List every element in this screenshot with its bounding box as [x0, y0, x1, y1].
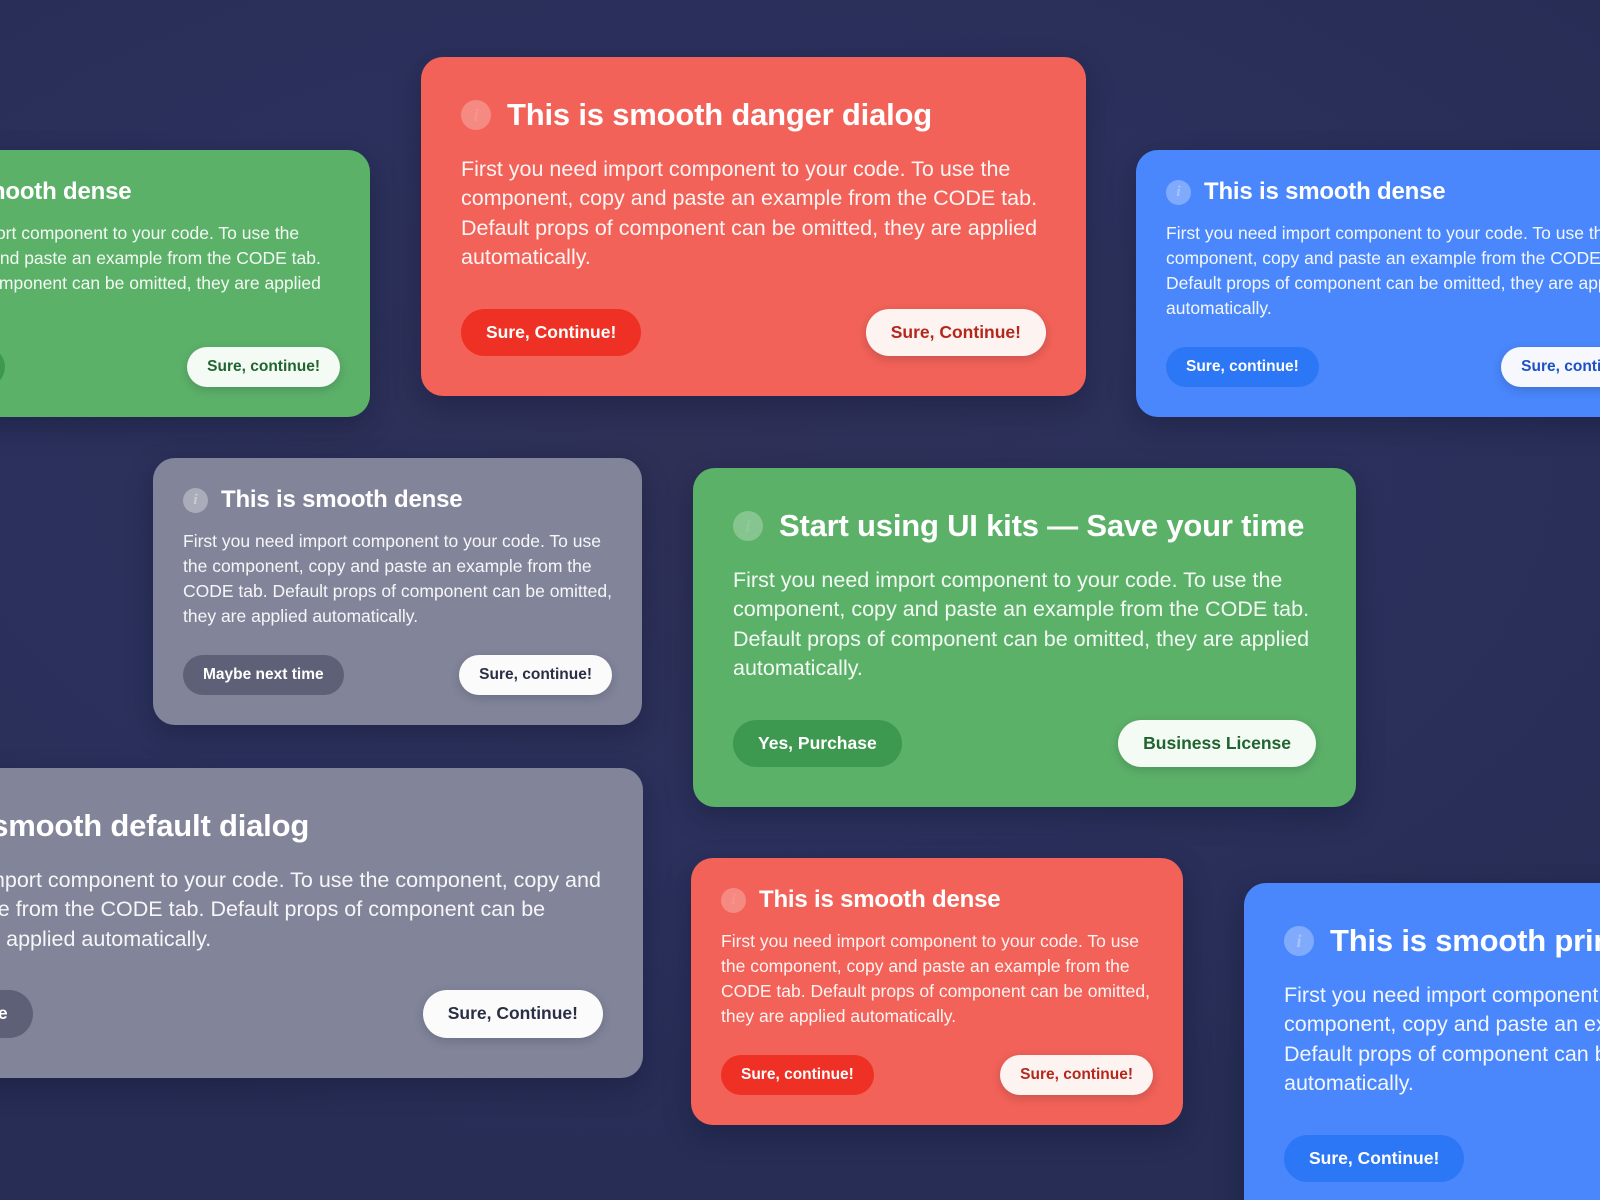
- dialog-body-text: First you need import component to your …: [421, 133, 1086, 273]
- dialog-title: This is smooth dense: [1204, 178, 1445, 206]
- dialog-header: i This is smooth dense: [1136, 150, 1600, 206]
- dialog-body-text: First you need import component to your …: [0, 206, 370, 320]
- primary-action-button[interactable]: Sure, continue!: [1166, 347, 1319, 387]
- dialog-body-text: First you need import component to your …: [1136, 206, 1600, 320]
- info-icon: i: [721, 888, 746, 913]
- dialog-body-text: First you need import component to your …: [153, 514, 642, 628]
- primary-action-button[interactable]: Maybe next time: [183, 655, 344, 695]
- dialog-header: i This is smooth danger dialog: [421, 57, 1086, 133]
- dialog-actions: Sure, Continue!: [1244, 1099, 1600, 1200]
- dialog-success-dense-left: i This is smooth dense First you need im…: [0, 150, 370, 417]
- dialog-header: i This is smooth default dialog: [0, 768, 643, 844]
- info-icon: i: [733, 511, 763, 541]
- secondary-action-button[interactable]: Sure, Continue!: [423, 990, 603, 1038]
- secondary-action-button[interactable]: Sure, continue!: [187, 347, 340, 387]
- info-icon: i: [183, 488, 208, 513]
- dialog-header: i This is smooth dense: [691, 858, 1183, 914]
- dialog-default-comfortable: i This is smooth default dialog First yo…: [0, 768, 643, 1078]
- dialog-actions: Maybe Next Time Sure, Continue!: [0, 954, 643, 1078]
- dialog-danger-comfortable: i This is smooth danger dialog First you…: [421, 57, 1086, 396]
- dialog-header: i Start using UI kits — Save your time: [693, 468, 1356, 544]
- dialog-danger-dense: i This is smooth dense First you need im…: [691, 858, 1183, 1125]
- dialog-header: i This is smooth dense: [0, 150, 370, 206]
- primary-action-button[interactable]: Sure, Continue!: [461, 309, 641, 357]
- primary-action-button[interactable]: Sure, Continue!: [1284, 1135, 1464, 1183]
- dialog-title: This is smooth primary dialog: [1330, 923, 1600, 959]
- dialog-success-comfortable: i Start using UI kits — Save your time F…: [693, 468, 1356, 807]
- secondary-action-button[interactable]: Sure, Continue!: [866, 309, 1046, 357]
- dialog-title: Start using UI kits — Save your time: [779, 508, 1304, 544]
- dialog-default-dense: i This is smooth dense First you need im…: [153, 458, 642, 725]
- dialog-title: This is smooth danger dialog: [507, 97, 932, 133]
- secondary-action-button[interactable]: Sure, continue!: [1501, 347, 1600, 387]
- primary-action-button[interactable]: Maybe Next Time: [0, 990, 33, 1038]
- dialog-body-text: First you need import component to your …: [1244, 959, 1600, 1099]
- dialog-actions: Sure, continue! Sure, continue!: [0, 320, 370, 417]
- dialog-header: i This is smooth dense: [153, 458, 642, 514]
- dialog-actions: Yes, Purchase Business License: [693, 684, 1356, 808]
- dialog-body-text: First you need import component to your …: [691, 914, 1183, 1028]
- secondary-action-button[interactable]: Business License: [1118, 720, 1316, 768]
- dialog-title: This is smooth dense: [221, 486, 462, 514]
- info-icon: i: [1166, 180, 1191, 205]
- dialog-header: i This is smooth primary dialog: [1244, 883, 1600, 959]
- dialog-title: This is smooth default dialog: [0, 808, 309, 844]
- dialog-primary-dense-right: i This is smooth dense First you need im…: [1136, 150, 1600, 417]
- info-icon: i: [461, 100, 491, 130]
- primary-action-button[interactable]: Sure, continue!: [0, 347, 5, 387]
- dialog-body-text: First you need import component to your …: [693, 544, 1356, 684]
- dialog-actions: Sure, continue! Sure, continue!: [1136, 320, 1600, 417]
- primary-action-button[interactable]: Yes, Purchase: [733, 720, 902, 768]
- dialog-actions: Sure, Continue! Sure, Continue!: [421, 273, 1086, 397]
- info-icon: i: [1284, 926, 1314, 956]
- dialog-title: This is smooth dense: [759, 886, 1000, 914]
- dialog-body-text: First you need import component to your …: [0, 844, 643, 954]
- dialog-primary-comfortable: i This is smooth primary dialog First yo…: [1244, 883, 1600, 1200]
- dialog-actions: Sure, continue! Sure, continue!: [691, 1028, 1183, 1125]
- dialog-title: This is smooth dense: [0, 178, 131, 206]
- dialog-actions: Maybe next time Sure, continue!: [153, 628, 642, 725]
- secondary-action-button[interactable]: Sure, continue!: [1000, 1055, 1153, 1095]
- primary-action-button[interactable]: Sure, continue!: [721, 1055, 874, 1095]
- secondary-action-button[interactable]: Sure, continue!: [459, 655, 612, 695]
